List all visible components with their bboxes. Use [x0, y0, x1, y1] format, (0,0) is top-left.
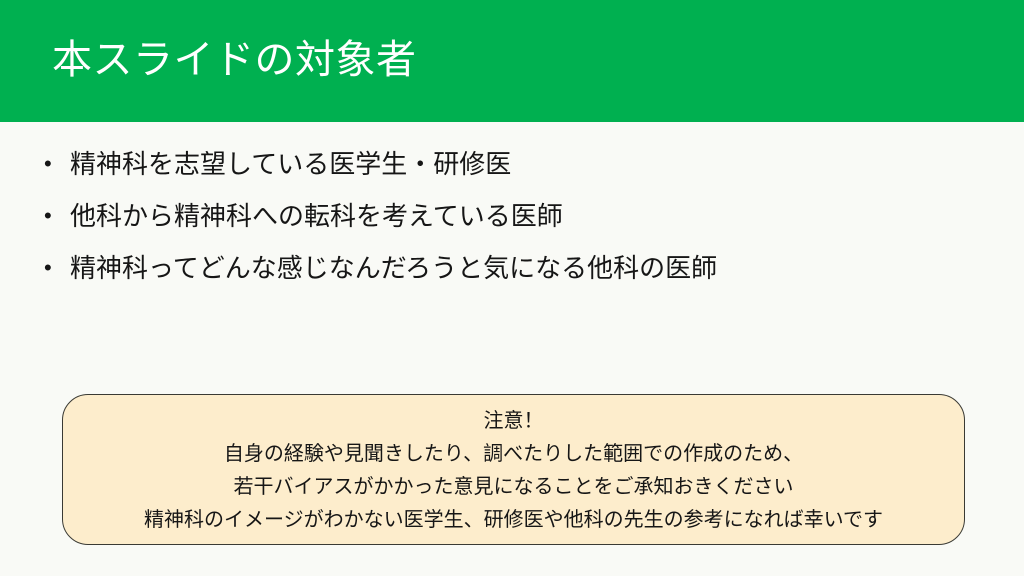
list-item-label: 他科から精神科への転科を考えている医師	[70, 190, 563, 242]
list-item-label: 精神科ってどんな感じなんだろうと気になる他科の医師	[70, 242, 717, 294]
callout-heading: 注意！	[484, 405, 544, 438]
bullet-point-icon: •	[44, 242, 70, 294]
list-item: • 精神科ってどんな感じなんだろうと気になる他科の医師	[44, 242, 984, 294]
bullet-list: • 精神科を志望している医学生・研修医 • 他科から精神科への転科を考えている医…	[44, 138, 984, 294]
title-banner: 本スライドの対象者	[0, 0, 1024, 122]
callout-line: 自身の経験や見聞きしたり、調べたりした範囲での作成のため、	[224, 438, 803, 471]
slide: 本スライドの対象者 • 精神科を志望している医学生・研修医 • 他科から精神科へ…	[0, 0, 1024, 576]
bullet-point-icon: •	[44, 138, 70, 190]
list-item: • 精神科を志望している医学生・研修医	[44, 138, 984, 190]
page-title: 本スライドの対象者	[52, 36, 417, 84]
callout-line: 若干バイアスがかかった意見になることをご承知おきください	[234, 471, 794, 504]
list-item: • 他科から精神科への転科を考えている医師	[44, 190, 984, 242]
list-item-label: 精神科を志望している医学生・研修医	[70, 138, 511, 190]
bullet-point-icon: •	[44, 190, 70, 242]
callout-line: 精神科のイメージがわかない医学生、研修医や他科の先生の参考になれば幸いです	[144, 504, 883, 537]
note-callout-box: 注意！ 自身の経験や見聞きしたり、調べたりした範囲での作成のため、 若干バイアス…	[62, 394, 965, 545]
